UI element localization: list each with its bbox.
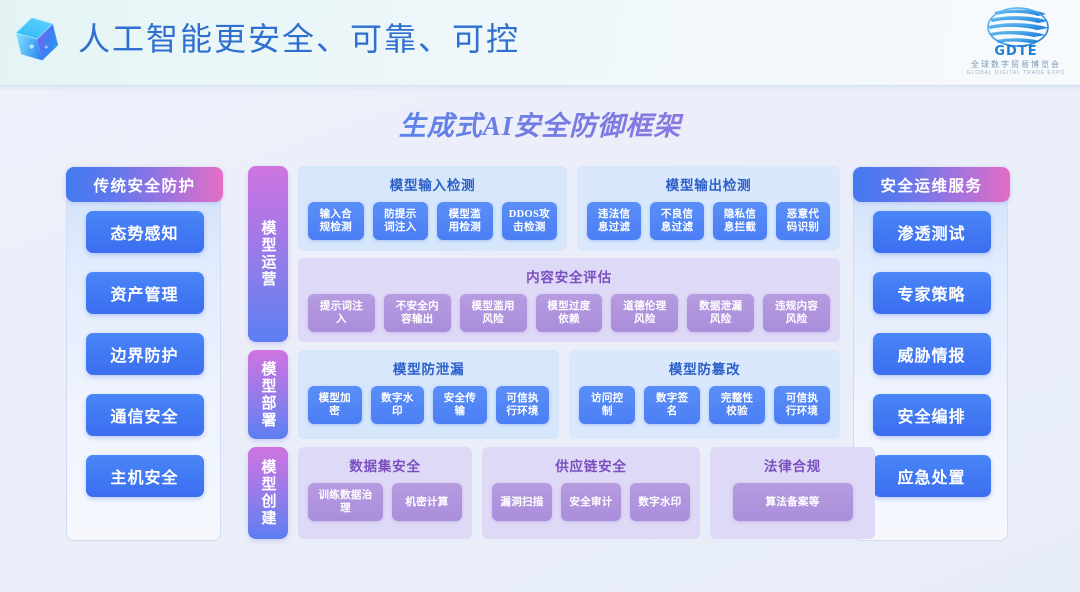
capability-chip[interactable]: 算法备案等 bbox=[733, 483, 853, 521]
chip-list: 输入合规检测防提示词注入模型滥用检测DDOS攻击检测 bbox=[308, 202, 557, 240]
group-title: 模型输出检测 bbox=[666, 174, 752, 194]
group-card: 模型防泄漏模型加密数字水印安全传输可信执行环境 bbox=[298, 350, 559, 439]
stage-body: 模型防泄漏模型加密数字水印安全传输可信执行环境模型防篡改访问控制数字签名完整性校… bbox=[298, 350, 840, 439]
brand-name-cn: 全球数字贸易博览会 bbox=[960, 59, 1072, 70]
capability-chip[interactable]: 模型滥用检测 bbox=[437, 202, 493, 240]
framework-title: 生成式AI安全防御框架 bbox=[0, 104, 1080, 143]
group-row: 数据集安全训练数据治理机密计算供应链安全漏洞扫描安全审计数字水印法律合规算法备案… bbox=[298, 447, 875, 539]
capability-chip[interactable]: 违法信息过滤 bbox=[587, 202, 641, 240]
capability-chip[interactable]: 隐私信息拦截 bbox=[713, 202, 767, 240]
group-row: 模型防泄漏模型加密数字水印安全传输可信执行环境模型防篡改访问控制数字签名完整性校… bbox=[298, 350, 840, 439]
capability-chip[interactable]: 输入合规检测 bbox=[308, 202, 364, 240]
cube-icon bbox=[6, 8, 68, 70]
group-card: 内容安全评估提示词注入不安全内容输出模型滥用风险模型过度依赖道德伦理风险数据泄漏… bbox=[298, 258, 840, 343]
capability-chip[interactable]: 安全传输 bbox=[433, 386, 487, 424]
capability-chip[interactable]: 数据泄漏风险 bbox=[687, 294, 754, 332]
capability-chip[interactable]: 访问控制 bbox=[579, 386, 635, 424]
capability-chip[interactable]: 不良信息过滤 bbox=[650, 202, 704, 240]
left-panel-title: 传统安全防护 bbox=[66, 167, 223, 202]
group-card: 法律合规算法备案等 bbox=[710, 447, 875, 539]
page-header: 人工智能更安全、可靠、可控 bbox=[0, 0, 1080, 86]
side-item[interactable]: 应急处置 bbox=[873, 455, 991, 497]
right-panel-title: 安全运维服务 bbox=[853, 167, 1010, 202]
stage-tab[interactable]: 模型部署 bbox=[248, 350, 288, 439]
capability-chip[interactable]: 机密计算 bbox=[392, 483, 462, 521]
group-row: 模型输入检测输入合规检测防提示词注入模型滥用检测DDOS攻击检测模型输出检测违法… bbox=[298, 166, 840, 251]
capability-chip[interactable]: 数字水印 bbox=[630, 483, 690, 521]
capability-chip[interactable]: 数字水印 bbox=[371, 386, 425, 424]
stage-row: 模型运营模型输入检测输入合规检测防提示词注入模型滥用检测DDOS攻击检测模型输出… bbox=[248, 166, 840, 342]
framework-stages: 模型运营模型输入检测输入合规检测防提示词注入模型滥用检测DDOS攻击检测模型输出… bbox=[248, 166, 840, 547]
side-item[interactable]: 边界防护 bbox=[86, 333, 204, 375]
brand-acronym-sup: HANGZHOU bbox=[960, 37, 1072, 42]
capability-chip[interactable]: 模型加密 bbox=[308, 386, 362, 424]
group-card: 模型防篡改访问控制数字签名完整性校验可信执行环境 bbox=[569, 350, 840, 439]
chip-list: 提示词注入不安全内容输出模型滥用风险模型过度依赖道德伦理风险数据泄漏风险违规内容… bbox=[308, 294, 830, 332]
stage-body: 数据集安全训练数据治理机密计算供应链安全漏洞扫描安全审计数字水印法律合规算法备案… bbox=[298, 447, 875, 539]
chip-list: 访问控制数字签名完整性校验可信执行环境 bbox=[579, 386, 830, 424]
chip-list: 算法备案等 bbox=[720, 483, 865, 521]
stage-tab[interactable]: 模型创建 bbox=[248, 447, 288, 539]
capability-chip[interactable]: 数字签名 bbox=[644, 386, 700, 424]
capability-chip[interactable]: 可信执行环境 bbox=[774, 386, 830, 424]
group-row: 内容安全评估提示词注入不安全内容输出模型滥用风险模型过度依赖道德伦理风险数据泄漏… bbox=[298, 258, 840, 343]
capability-chip[interactable]: 道德伦理风险 bbox=[611, 294, 678, 332]
group-card: 模型输入检测输入合规检测防提示词注入模型滥用检测DDOS攻击检测 bbox=[298, 166, 567, 251]
capability-chip[interactable]: 模型滥用风险 bbox=[460, 294, 527, 332]
side-item[interactable]: 态势感知 bbox=[86, 211, 204, 253]
capability-chip[interactable]: 提示词注入 bbox=[308, 294, 375, 332]
right-panel-list: 渗透测试专家策略威胁情报安全编排应急处置 bbox=[854, 211, 1009, 516]
side-item[interactable]: 主机安全 bbox=[86, 455, 204, 497]
capability-chip[interactable]: DDOS攻击检测 bbox=[502, 202, 558, 240]
left-panel-traditional-security: 传统安全防护 态势感知资产管理边界防护通信安全主机安全 bbox=[66, 167, 221, 541]
capability-chip[interactable]: 安全审计 bbox=[561, 483, 621, 521]
stage-body: 模型输入检测输入合规检测防提示词注入模型滥用检测DDOS攻击检测模型输出检测违法… bbox=[298, 166, 840, 342]
side-item[interactable]: 渗透测试 bbox=[873, 211, 991, 253]
capability-chip[interactable]: 防提示词注入 bbox=[373, 202, 429, 240]
right-panel-security-operations: 安全运维服务 渗透测试专家策略威胁情报安全编排应急处置 bbox=[853, 167, 1008, 541]
group-title: 供应链安全 bbox=[555, 455, 627, 475]
group-card: 数据集安全训练数据治理机密计算 bbox=[298, 447, 472, 539]
group-title: 模型输入检测 bbox=[390, 174, 476, 194]
capability-chip[interactable]: 违规内容风险 bbox=[763, 294, 830, 332]
left-panel-list: 态势感知资产管理边界防护通信安全主机安全 bbox=[67, 211, 222, 516]
group-card: 模型输出检测违法信息过滤不良信息过滤隐私信息拦截恶意代码识别 bbox=[577, 166, 840, 251]
group-title: 模型防篡改 bbox=[669, 358, 741, 378]
page-title: 人工智能更安全、可靠、可控 bbox=[78, 14, 520, 60]
capability-chip[interactable]: 可信执行环境 bbox=[496, 386, 550, 424]
group-title: 数据集安全 bbox=[349, 455, 421, 475]
chip-list: 违法信息过滤不良信息过滤隐私信息拦截恶意代码识别 bbox=[587, 202, 830, 240]
chip-list: 训练数据治理机密计算 bbox=[308, 483, 462, 521]
capability-chip[interactable]: 漏洞扫描 bbox=[492, 483, 552, 521]
stage-tab[interactable]: 模型运营 bbox=[248, 166, 288, 342]
side-item[interactable]: 安全编排 bbox=[873, 394, 991, 436]
capability-chip[interactable]: 模型过度依赖 bbox=[536, 294, 603, 332]
side-item[interactable]: 资产管理 bbox=[86, 272, 204, 314]
group-title: 模型防泄漏 bbox=[393, 358, 465, 378]
brand-acronym: GDTE bbox=[960, 44, 1072, 59]
capability-chip[interactable]: 训练数据治理 bbox=[308, 483, 383, 521]
brand-logo: HANGZHOU GDTE 全球数字贸易博览会 GLOBAL DIGITAL T… bbox=[960, 4, 1072, 82]
side-item[interactable]: 通信安全 bbox=[86, 394, 204, 436]
chip-list: 模型加密数字水印安全传输可信执行环境 bbox=[308, 386, 549, 424]
brand-name-en: GLOBAL DIGITAL TRADE EXPO bbox=[960, 70, 1072, 76]
capability-chip[interactable]: 恶意代码识别 bbox=[776, 202, 830, 240]
stage-row: 模型部署模型防泄漏模型加密数字水印安全传输可信执行环境模型防篡改访问控制数字签名… bbox=[248, 350, 840, 439]
group-title: 内容安全评估 bbox=[526, 266, 612, 286]
group-card: 供应链安全漏洞扫描安全审计数字水印 bbox=[482, 447, 700, 539]
capability-chip[interactable]: 完整性校验 bbox=[709, 386, 765, 424]
side-item[interactable]: 威胁情报 bbox=[873, 333, 991, 375]
side-item[interactable]: 专家策略 bbox=[873, 272, 991, 314]
stage-row: 模型创建数据集安全训练数据治理机密计算供应链安全漏洞扫描安全审计数字水印法律合规… bbox=[248, 447, 840, 539]
chip-list: 漏洞扫描安全审计数字水印 bbox=[492, 483, 690, 521]
group-title: 法律合规 bbox=[764, 455, 821, 475]
capability-chip[interactable]: 不安全内容输出 bbox=[384, 294, 451, 332]
